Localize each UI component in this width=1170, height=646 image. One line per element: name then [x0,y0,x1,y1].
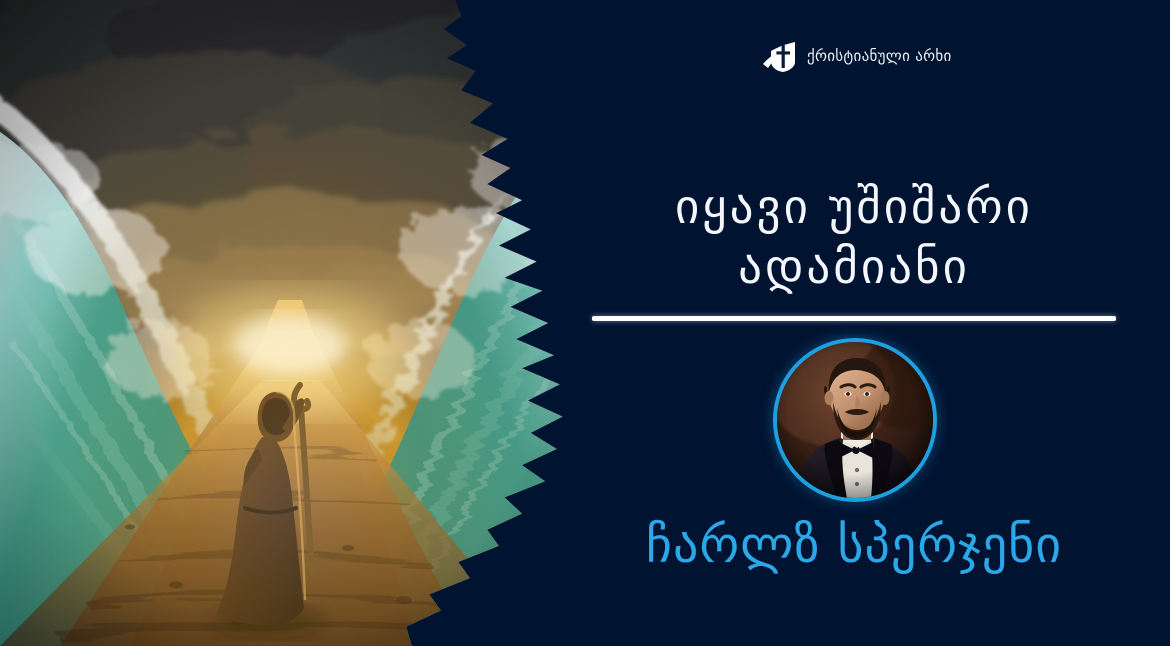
cross-wing-logo-icon [762,39,798,73]
brand-logo: ქრისტიანული არხი [762,36,952,76]
poster-canvas: ქრისტიანული არხი იყავი უშიშარი ადამიანი [0,0,1170,646]
artwork-parted-sea [0,0,580,646]
title-divider [592,316,1116,321]
author-portrait-avatar [773,338,937,502]
title-line-2: ადამიანი [590,238,1118,298]
author-name: ჩარლზ სპერჯენი [590,516,1118,575]
page-title: იყავი უშიშარი ადამიანი [590,178,1118,298]
brand-name: ქრისტიანული არხი [807,47,952,65]
title-line-1: იყავი უშიშარი [590,178,1118,238]
